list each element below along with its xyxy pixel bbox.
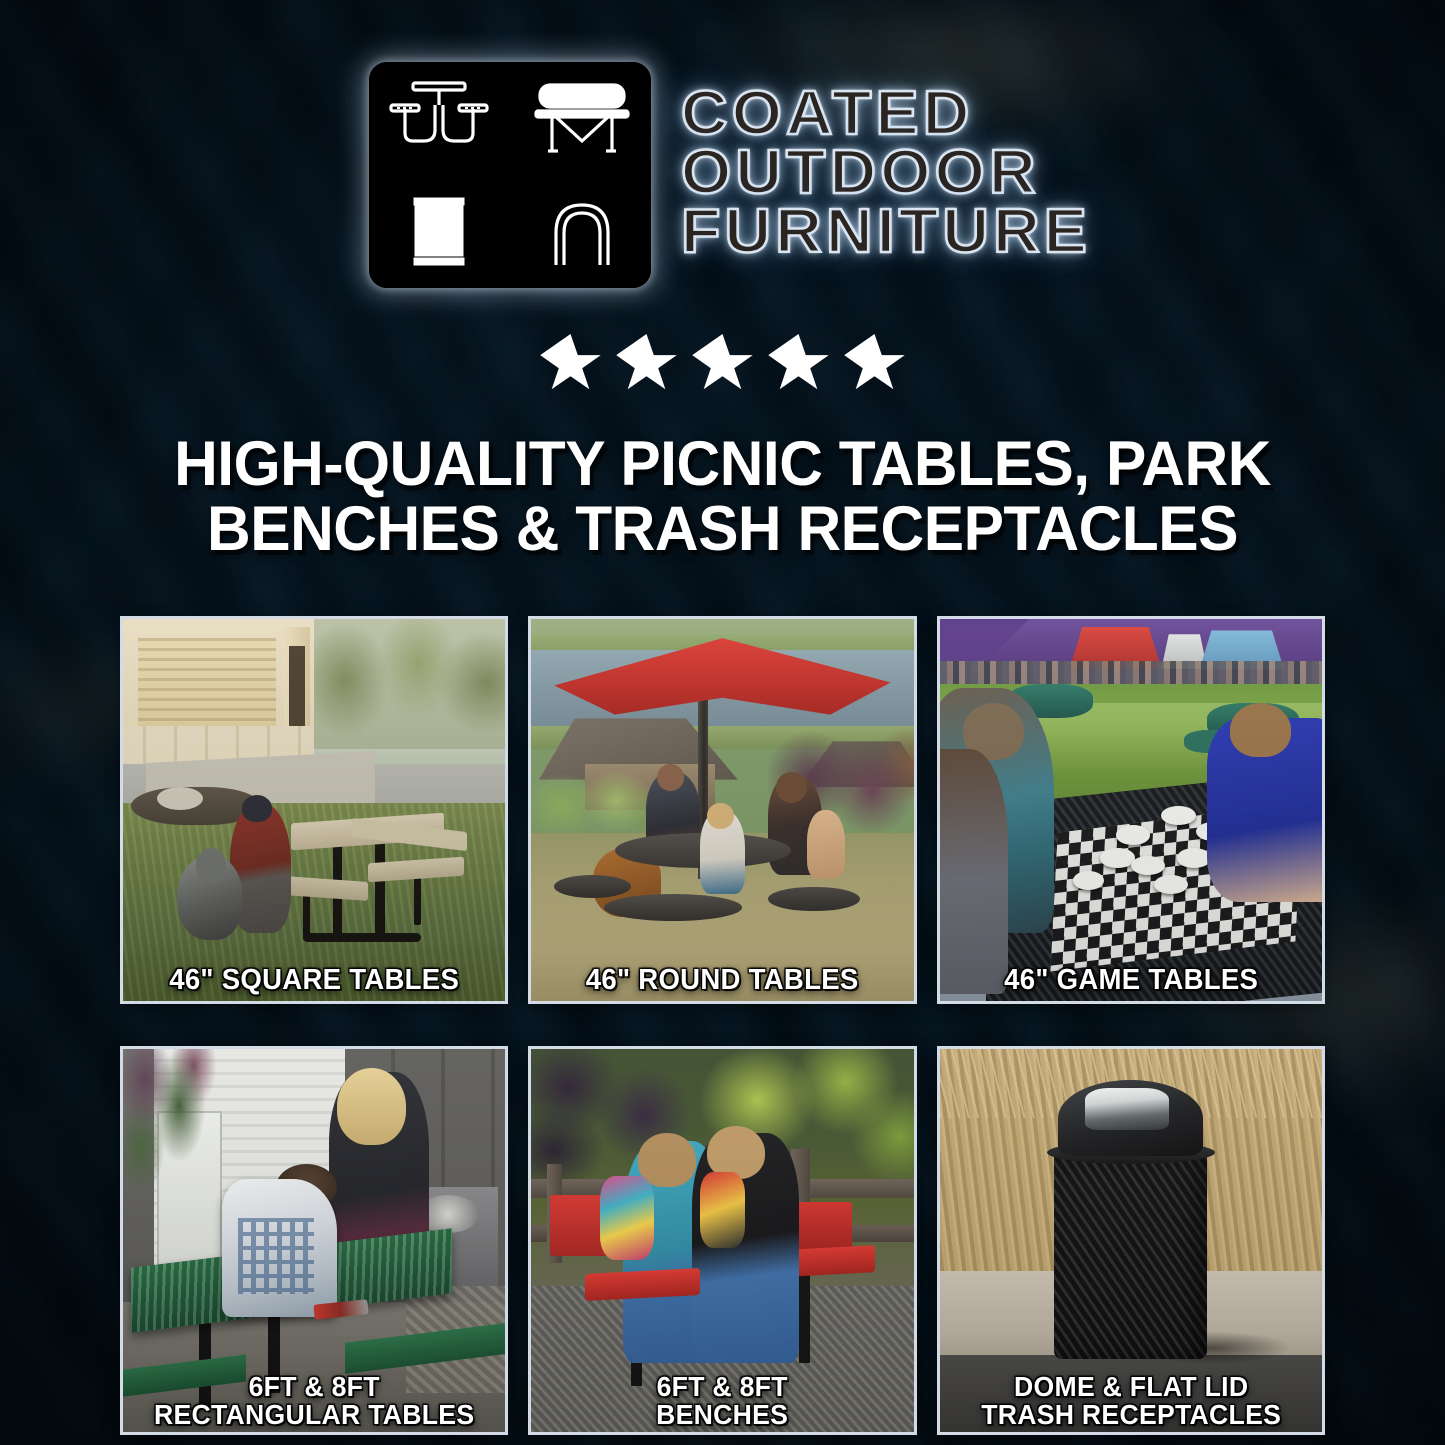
headline-line-1: HIGH-QUALITY PICNIC TABLES, PARK xyxy=(87,432,1359,497)
product-caption: 46" ROUND TABLES xyxy=(545,966,901,995)
product-caption: 6FT & 8FT BENCHES xyxy=(545,1373,901,1430)
headline-line-2: BENCHES & TRASH RECEPTACLES xyxy=(87,497,1359,562)
caption-line-1: 46" SQUARE TABLES xyxy=(136,966,492,995)
star-rating xyxy=(0,334,1445,394)
trash-receptacle-icon xyxy=(369,177,509,289)
caption-line-1: 6FT & 8FT xyxy=(545,1373,901,1402)
caption-line-1: 46" GAME TABLES xyxy=(953,966,1309,995)
logo-line-3: FURNITURE xyxy=(681,203,1091,261)
marketing-poster: COATED OUTDOOR FURNITURE HIGH-QUALITY PI… xyxy=(0,0,1445,1445)
caption-line-2: RECTANGULAR TABLES xyxy=(136,1401,492,1430)
headline: HIGH-QUALITY PICNIC TABLES, PARK BENCHES… xyxy=(87,432,1359,562)
logo-line-2: OUTDOOR xyxy=(681,144,1091,202)
product-caption: 6FT & 8FT RECTANGULAR TABLES xyxy=(136,1373,492,1430)
product-tile-round-tables[interactable]: 46" ROUND TABLES xyxy=(528,616,916,1004)
caption-line-2: BENCHES xyxy=(545,1401,901,1430)
logo-mark xyxy=(369,62,651,288)
star-icon xyxy=(616,334,678,394)
product-grid: 46" SQUARE TABLES xyxy=(120,616,1325,1435)
product-tile-game-tables[interactable]: 46" GAME TABLES xyxy=(937,616,1325,1004)
product-caption: 46" GAME TABLES xyxy=(953,966,1309,995)
star-icon xyxy=(692,334,754,394)
product-tile-rectangular-tables[interactable]: 6FT & 8FT RECTANGULAR TABLES xyxy=(120,1046,508,1434)
picnic-table-front-icon xyxy=(369,62,509,174)
product-tile-square-tables[interactable]: 46" SQUARE TABLES xyxy=(120,616,508,1004)
product-caption: DOME & FLAT LID TRASH RECEPTACLES xyxy=(953,1373,1309,1430)
brand-logo: COATED OUTDOOR FURNITURE xyxy=(0,62,1445,288)
product-tile-benches[interactable]: 6FT & 8FT BENCHES xyxy=(528,1046,916,1434)
bench-table-side-icon xyxy=(512,62,652,174)
logo-line-1: COATED xyxy=(681,85,1091,143)
caption-line-1: DOME & FLAT LID xyxy=(953,1373,1309,1402)
star-icon xyxy=(768,334,830,394)
star-icon xyxy=(540,334,602,394)
star-icon xyxy=(844,334,906,394)
product-photo-round-tables xyxy=(531,619,913,1001)
dome-lid-arch-icon xyxy=(512,177,652,289)
product-photo-square-tables xyxy=(123,619,505,1001)
caption-line-1: 6FT & 8FT xyxy=(136,1373,492,1402)
logo-wordmark: COATED OUTDOOR FURNITURE xyxy=(681,85,1075,266)
product-caption: 46" SQUARE TABLES xyxy=(136,966,492,995)
product-photo-game-tables xyxy=(940,619,1322,1001)
caption-line-2: TRASH RECEPTACLES xyxy=(953,1401,1309,1430)
caption-line-1: 46" ROUND TABLES xyxy=(545,966,901,995)
product-tile-trash-receptacles[interactable]: DOME & FLAT LID TRASH RECEPTACLES xyxy=(937,1046,1325,1434)
